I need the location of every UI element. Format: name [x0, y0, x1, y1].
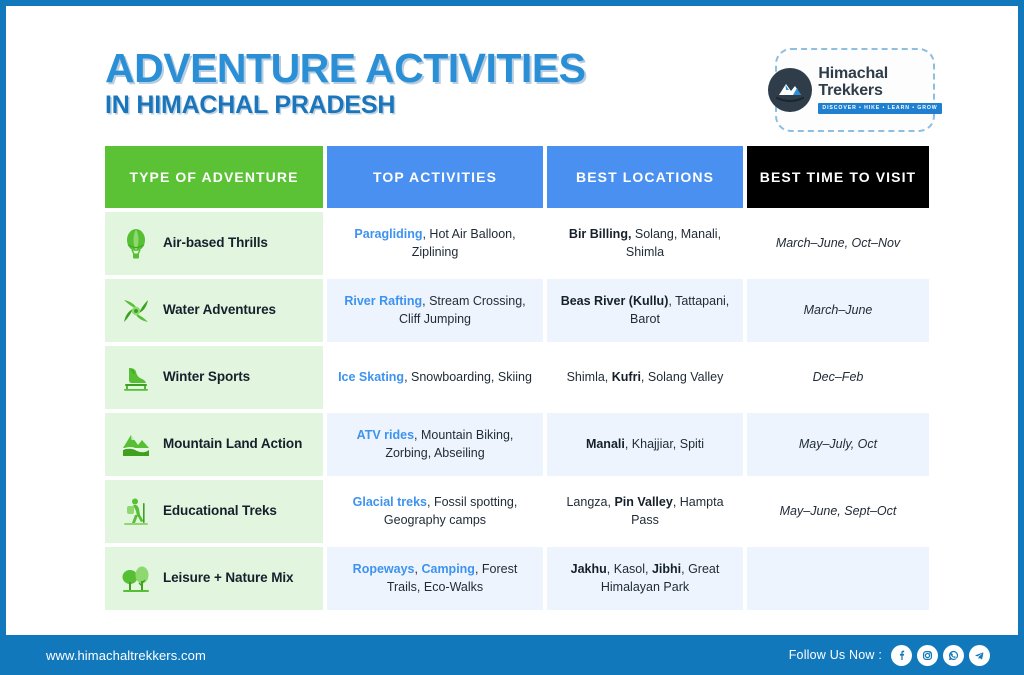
instagram-icon[interactable]: [917, 645, 938, 666]
table-header-row: TYPE OF ADVENTURE TOP ACTIVITIES BEST LO…: [105, 146, 925, 208]
cell-time: March–June, Oct–Nov: [747, 212, 929, 275]
facebook-icon[interactable]: [891, 645, 912, 666]
activity-highlight: ATV rides: [357, 428, 414, 442]
logo-line-1: Himachal: [818, 66, 941, 82]
activity-highlight: Ropeways: [353, 562, 415, 576]
table-row: Water Adventures River Rafting, Stream C…: [105, 279, 925, 342]
logo-text: Himachal Trekkers DISCOVER • HIKE • LEAR…: [818, 66, 941, 113]
cell-type: Educational Treks: [105, 480, 323, 543]
trees-icon: [121, 563, 151, 595]
column-header-locations: BEST LOCATIONS: [547, 146, 743, 208]
cell-type: Mountain Land Action: [105, 413, 323, 476]
activity-rest: , Hot Air Balloon, Ziplining: [412, 227, 516, 258]
logo-inner: Himachal Trekkers DISCOVER • HIKE • LEAR…: [760, 66, 949, 113]
location-rest: , Khajjiar, Spiti: [625, 437, 704, 451]
cell-locations: Beas River (Kullu), Tattapani, Barot: [547, 279, 743, 342]
table-row: Air-based Thrills Paragliding, Hot Air B…: [105, 212, 925, 275]
adventure-table: TYPE OF ADVENTURE TOP ACTIVITIES BEST LO…: [105, 146, 925, 614]
cell-time: Dec–Feb: [747, 346, 929, 409]
activity-highlight: Ice Skating: [338, 370, 404, 384]
mountain-icon: [121, 429, 151, 461]
location-bold: Pin Valley: [614, 495, 672, 509]
location-rest: , Solang Valley: [641, 370, 723, 384]
whatsapp-icon[interactable]: [943, 645, 964, 666]
location-bold: Bir Billing,: [569, 227, 632, 241]
type-label: Educational Treks: [163, 502, 277, 521]
location-mid: , Kasol,: [607, 562, 652, 576]
cell-locations: Manali, Khajjiar, Spiti: [547, 413, 743, 476]
cell-locations: Jakhu, Kasol, Jibhi, Great Himalayan Par…: [547, 547, 743, 610]
cell-activities: ATV rides, Mountain Biking, Zorbing, Abs…: [327, 413, 543, 476]
type-label: Water Adventures: [163, 301, 276, 320]
cell-locations: Bir Billing, Solang, Manali, Shimla: [547, 212, 743, 275]
kayak-icon: [121, 295, 151, 327]
column-header-type: TYPE OF ADVENTURE: [105, 146, 323, 208]
location-bold: Kufri: [612, 370, 641, 384]
poster-sheet: ADVENTURE ACTIVITIES IN HIMACHAL PRADESH: [6, 6, 1018, 635]
cell-type: Air-based Thrills: [105, 212, 323, 275]
activity-highlight: Paragliding: [354, 227, 422, 241]
column-header-activities: TOP ACTIVITIES: [327, 146, 543, 208]
location-bold: Beas River (Kullu): [561, 294, 669, 308]
cell-locations: Shimla, Kufri, Solang Valley: [547, 346, 743, 409]
table-body: Air-based Thrills Paragliding, Hot Air B…: [105, 212, 925, 610]
logo-tagline: DISCOVER • HIKE • LEARN • GROW: [818, 103, 941, 113]
activity-rest: , Snowboarding, Skiing: [404, 370, 532, 384]
social-links: [891, 645, 990, 666]
table-row: Leisure + Nature Mix Ropeways, Camping, …: [105, 547, 925, 610]
cell-activities: Paragliding, Hot Air Balloon, Ziplining: [327, 212, 543, 275]
location-bold: Jakhu: [571, 562, 607, 576]
website-url[interactable]: www.himachaltrekkers.com: [46, 648, 206, 663]
cell-time: March–June: [747, 279, 929, 342]
hiker-icon: [121, 496, 151, 528]
ice-skate-icon: [121, 362, 151, 394]
cell-activities: Ice Skating, Snowboarding, Skiing: [327, 346, 543, 409]
cell-locations: Langza, Pin Valley, Hampta Pass: [547, 480, 743, 543]
type-label: Mountain Land Action: [163, 435, 302, 454]
type-label: Winter Sports: [163, 368, 250, 387]
type-label: Leisure + Nature Mix: [163, 569, 293, 588]
activity-highlight: Glacial treks: [353, 495, 427, 509]
cell-type: Leisure + Nature Mix: [105, 547, 323, 610]
page-title: ADVENTURE ACTIVITIES: [105, 48, 586, 90]
mountain-badge-icon: [768, 68, 812, 112]
poster-footer: www.himachaltrekkers.com Follow Us Now :: [0, 635, 1024, 675]
follow-block: Follow Us Now :: [789, 645, 990, 666]
cell-type: Water Adventures: [105, 279, 323, 342]
cell-time: May–July, Oct: [747, 413, 929, 476]
location-prefix: Langza,: [566, 495, 614, 509]
table-row: Mountain Land Action ATV rides, Mountain…: [105, 413, 925, 476]
cell-type: Winter Sports: [105, 346, 323, 409]
location-bold: Manali: [586, 437, 625, 451]
infographic-poster: ADVENTURE ACTIVITIES IN HIMACHAL PRADESH: [0, 0, 1024, 675]
logo-line-2: Trekkers: [818, 83, 941, 99]
page-subtitle: IN HIMACHAL PRADESH: [105, 92, 586, 118]
location-rest: Solang, Manali, Shimla: [626, 227, 721, 258]
title-block: ADVENTURE ACTIVITIES IN HIMACHAL PRADESH: [105, 48, 586, 118]
table-row: Educational Treks Glacial treks, Fossil …: [105, 480, 925, 543]
activity-highlight: River Rafting: [344, 294, 422, 308]
table-row: Winter Sports Ice Skating, Snowboarding,…: [105, 346, 925, 409]
poster-header: ADVENTURE ACTIVITIES IN HIMACHAL PRADESH: [6, 6, 1018, 134]
type-label: Air-based Thrills: [163, 234, 268, 253]
column-header-time: BEST TIME TO VISIT: [747, 146, 929, 208]
activity-highlight-2: Camping: [421, 562, 474, 576]
hot-air-balloon-icon: [121, 228, 151, 260]
cell-time: [747, 547, 929, 610]
location-bold-2: Jibhi: [652, 562, 681, 576]
brand-logo: Himachal Trekkers DISCOVER • HIKE • LEAR…: [775, 48, 935, 132]
cell-activities: River Rafting, Stream Crossing, Cliff Ju…: [327, 279, 543, 342]
cell-activities: Glacial treks, Fossil spotting, Geograph…: [327, 480, 543, 543]
cell-time: May–June, Sept–Oct: [747, 480, 929, 543]
telegram-icon[interactable]: [969, 645, 990, 666]
location-prefix: Shimla,: [567, 370, 612, 384]
follow-label: Follow Us Now :: [789, 648, 882, 662]
cell-activities: Ropeways, Camping, Forest Trails, Eco-Wa…: [327, 547, 543, 610]
